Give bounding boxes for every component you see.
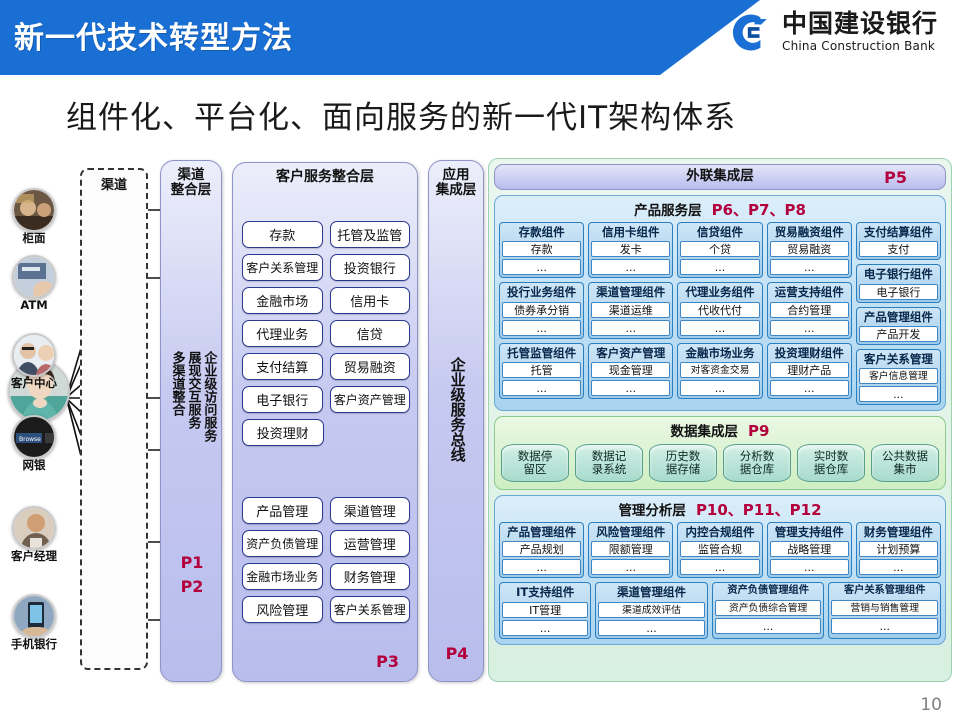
data-store-cylinder[interactable]: 公共数据集市	[871, 444, 939, 482]
ccb-logo-cn: 中国建设银行	[782, 11, 938, 37]
product-service-layer: 产品服务层P6、P7、P8 存款组件存款...投行业务组件债券承分销...托管监…	[494, 195, 946, 411]
ccb-logo-text: 中国建设银行 China Construction Bank	[782, 11, 938, 53]
online-bank-photo-icon: Browse	[12, 415, 56, 459]
component-card[interactable]: 托管监管组件托管...	[499, 343, 584, 399]
component-item[interactable]: 产品开发	[859, 326, 938, 342]
component-card[interactable]: 资产负债管理组件资产负债综合管理...	[712, 582, 825, 638]
service-pill-row: 代理业务信贷	[242, 320, 410, 347]
channel-item-atm[interactable]: ATM	[8, 255, 60, 312]
service-pill-row: 支付结算贸易融资	[242, 353, 410, 380]
service-pill-row: 资产负债管理运营管理	[242, 530, 410, 557]
component-item[interactable]: ...	[770, 559, 849, 575]
component-item[interactable]: 渠道成效评估	[598, 602, 705, 618]
component-title: 内控合规组件	[680, 525, 759, 539]
management-analysis-layer: 管理分析层P10、P11、P12 产品管理组件产品规划...风险管理组件限额管理…	[494, 495, 946, 645]
channel-layer-tag-p2: P2	[161, 577, 223, 596]
component-card[interactable]: 产品管理组件产品开发	[856, 307, 941, 345]
component-card[interactable]: 投资理财组件理财产品...	[767, 343, 852, 399]
component-card[interactable]: 运营支持组件合约管理...	[767, 282, 852, 338]
service-pill[interactable]: 产品管理	[242, 497, 323, 524]
service-layer-title: 客户服务整合层	[233, 163, 417, 186]
service-pill[interactable]: 投资理财	[242, 419, 324, 446]
component-title: 客户资产管理	[591, 346, 670, 360]
product-component-grid: 存款组件存款...投行业务组件债券承分销...托管监管组件托管...信用卡组件发…	[499, 222, 941, 406]
component-item[interactable]: ...	[859, 386, 938, 402]
service-pill[interactable]: 投资银行	[330, 254, 411, 281]
channel-vtext-1: 企业级访问服务	[200, 351, 215, 442]
product-column: 信贷组件个贷...代理业务组件代收代付...金融市场业务对客资金交易...	[677, 222, 762, 406]
component-item[interactable]: ...	[859, 559, 938, 575]
app-layer-title: 应用集成层	[429, 161, 483, 198]
component-item[interactable]: ...	[502, 320, 581, 336]
service-pill-row: 金融市场业务财务管理	[242, 563, 410, 590]
product-layer-tag: P6、P7、P8	[712, 201, 806, 219]
channel-item-account-manager[interactable]: 客户经理	[8, 506, 60, 563]
data-store-cylinder[interactable]: 分析数据仓库	[723, 444, 791, 482]
data-store-cylinder[interactable]: 数据记录系统	[575, 444, 643, 482]
channel-item-counter[interactable]: 柜面	[8, 188, 60, 245]
component-card[interactable]: 代理业务组件代收代付...	[677, 282, 762, 338]
service-pill-empty	[331, 419, 411, 446]
svg-text:Browse: Browse	[19, 436, 41, 443]
component-item[interactable]: 代收代付	[680, 302, 759, 318]
service-pill[interactable]: 信用卡	[330, 287, 411, 314]
component-item[interactable]: ...	[831, 618, 938, 634]
channel-item-mobile-bank[interactable]: 手机银行	[8, 594, 60, 651]
component-title: 运营支持组件	[770, 285, 849, 299]
service-pill-row: 电子银行客户资产管理	[242, 386, 410, 413]
external-layer-tag: P5	[884, 168, 907, 187]
component-title: 客户关系管理组件	[831, 585, 938, 598]
component-title: 代理业务组件	[680, 285, 759, 299]
service-pill[interactable]: 信贷	[330, 320, 411, 347]
component-title: 产品管理组件	[859, 310, 938, 324]
component-item[interactable]: 存款	[502, 241, 581, 257]
component-item[interactable]: 托管	[502, 362, 581, 378]
mgmt-row-1: 产品管理组件产品规划...风险管理组件限额管理...内控合规组件监管合规...管…	[499, 522, 941, 578]
service-pill[interactable]: 金融市场业务	[242, 563, 323, 590]
channel-layer-tag-p1: P1	[161, 553, 223, 572]
service-pill[interactable]: 风险管理	[242, 596, 323, 623]
component-title: 金融市场业务	[680, 346, 759, 360]
component-item[interactable]: 监管合规	[680, 541, 759, 557]
service-pill[interactable]: 贸易融资	[330, 353, 411, 380]
mobile-bank-photo-icon	[12, 594, 56, 638]
component-item[interactable]: ...	[680, 259, 759, 275]
data-layer-title: 数据集成层P9	[501, 419, 939, 440]
product-column: 支付结算组件支付电子银行组件电子银行产品管理组件产品开发客户关系管理客户信息管理…	[856, 222, 941, 406]
component-card[interactable]: 财务管理组件计划预算...	[856, 522, 941, 578]
page-title: 组件化、平台化、面向服务的新一代IT架构体系	[66, 92, 736, 137]
component-item[interactable]: IT管理	[502, 602, 588, 618]
channel-item-call-center[interactable]: 客户中心	[8, 333, 60, 390]
customer-service-integration-layer: 客户服务整合层 存款托管及监管客户关系管理投资银行金融市场信用卡代理业务信贷支付…	[232, 162, 418, 682]
product-column: 信用卡组件发卡...渠道管理组件渠道运维...客户资产管理现金管理...	[588, 222, 673, 406]
component-item[interactable]: 电子银行	[859, 284, 938, 300]
component-card[interactable]: 客户资产管理现金管理...	[588, 343, 673, 399]
data-store-cylinder[interactable]: 历史数据存储	[649, 444, 717, 482]
component-item[interactable]: ...	[502, 559, 581, 575]
mgmt-layer-title: 管理分析层P10、P11、P12	[499, 498, 941, 519]
application-integration-layer: 应用集成层 企业级服务总线 P4	[428, 160, 484, 682]
component-item[interactable]: ...	[591, 259, 670, 275]
component-title: 支付结算组件	[859, 225, 938, 239]
service-pill-row: 存款托管及监管	[242, 221, 410, 248]
component-card[interactable]: 渠道管理组件渠道成效评估...	[595, 582, 708, 638]
account-manager-photo-icon	[12, 506, 56, 550]
ccb-logo-mark	[728, 10, 773, 55]
component-title: 管理支持组件	[770, 525, 849, 539]
component-item[interactable]: ...	[770, 320, 849, 336]
service-pill-row: 产品管理渠道管理	[242, 497, 410, 524]
product-column: 存款组件存款...投行业务组件债券承分销...托管监管组件托管...	[499, 222, 584, 406]
atm-photo-icon	[12, 255, 56, 299]
service-pill[interactable]: 客户关系管理	[330, 596, 411, 623]
component-item[interactable]: ...	[502, 259, 581, 275]
service-pill[interactable]: 客户关系管理	[242, 254, 323, 281]
component-item[interactable]: 现金管理	[591, 362, 670, 378]
service-pill-row: 金融市场信用卡	[242, 287, 410, 314]
component-card[interactable]: 贸易融资组件贸易融资...	[767, 222, 852, 278]
mgmt-row-2: IT支持组件IT管理...渠道管理组件渠道成效评估...资产负债管理组件资产负债…	[499, 582, 941, 638]
channel-integration-title: 渠道整合层	[161, 161, 221, 198]
component-item[interactable]: ...	[770, 259, 849, 275]
component-item[interactable]: ...	[715, 618, 822, 634]
component-title: 产品管理组件	[502, 525, 581, 539]
service-group-2: 产品管理渠道管理资产负债管理运营管理金融市场业务财务管理风险管理客户关系管理	[242, 497, 410, 629]
component-item[interactable]: 个贷	[680, 241, 759, 257]
channel-label: 网银	[8, 460, 60, 472]
component-item[interactable]: 限额管理	[591, 541, 670, 557]
component-title: 渠道管理组件	[598, 585, 705, 599]
component-item[interactable]: ...	[502, 380, 581, 396]
service-pill-row: 投资理财	[242, 419, 410, 446]
data-integration-layer: 数据集成层P9 数据停留区数据记录系统历史数据存储分析数据仓库实时数据仓库公共数…	[494, 416, 946, 490]
channel-label: 柜面	[8, 233, 60, 245]
component-item[interactable]: ...	[598, 620, 705, 636]
component-item[interactable]: ...	[591, 559, 670, 575]
counter-photo-icon	[12, 188, 56, 232]
service-layer-tag: P3	[376, 652, 399, 671]
external-integration-layer: 外联集成层 P5	[494, 164, 946, 190]
product-column: 贸易融资组件贸易融资...运营支持组件合约管理...投资理财组件理财产品...	[767, 222, 852, 406]
channel-item-online-bank[interactable]: Browse 网银	[8, 415, 60, 472]
channels-title: 渠道	[82, 174, 146, 193]
service-pill[interactable]: 运营管理	[330, 530, 411, 557]
channel-label: 手机银行	[8, 639, 60, 651]
component-card[interactable]: 信用卡组件发卡...	[588, 222, 673, 278]
component-card[interactable]: 产品管理组件产品规划...	[499, 522, 584, 578]
component-item[interactable]: 理财产品	[770, 362, 849, 378]
service-pill[interactable]: 财务管理	[330, 563, 411, 590]
service-group-1: 存款托管及监管客户关系管理投资银行金融市场信用卡代理业务信贷支付结算贸易融资电子…	[242, 221, 410, 452]
component-card[interactable]: 客户关系管理客户信息管理...	[856, 349, 941, 405]
component-title: IT支持组件	[502, 585, 588, 599]
component-item[interactable]: ...	[591, 380, 670, 396]
component-title: 信贷组件	[680, 225, 759, 239]
component-item[interactable]: 贸易融资	[770, 241, 849, 257]
component-item[interactable]: 产品规划	[502, 541, 581, 557]
right-layers-stack: 外联集成层 P5 产品服务层P6、P7、P8 存款组件存款...投行业务组件债券…	[488, 158, 952, 682]
call-center-photo-icon	[12, 333, 56, 377]
component-card[interactable]: 渠道管理组件渠道运维...	[588, 282, 673, 338]
component-card[interactable]: 信贷组件个贷...	[677, 222, 762, 278]
service-pill[interactable]: 存款	[242, 221, 323, 248]
component-item[interactable]: ...	[502, 620, 588, 636]
component-title: 渠道管理组件	[591, 285, 670, 299]
component-item[interactable]: ...	[680, 320, 759, 336]
component-card[interactable]: 金融市场业务对客资金交易...	[677, 343, 762, 399]
app-layer-vtext: 企业级服务总线	[448, 357, 465, 462]
component-item[interactable]: 债券承分销	[502, 302, 581, 318]
channels-group: 渠道	[80, 168, 148, 670]
component-item[interactable]: ...	[680, 380, 759, 396]
data-store-row: 数据停留区数据记录系统历史数据存储分析数据仓库实时数据仓库公共数据集市	[501, 444, 939, 482]
service-pill[interactable]: 电子银行	[242, 386, 323, 413]
component-item[interactable]: 客户信息管理	[859, 368, 938, 384]
component-item[interactable]: 发卡	[591, 241, 670, 257]
product-layer-title: 产品服务层P6、P7、P8	[499, 198, 941, 219]
component-card[interactable]: 电子银行组件电子银行	[856, 264, 941, 302]
channel-integration-layer: 渠道整合层 多渠道整合 展现交互服务 企业级访问服务 P1 P2	[160, 160, 222, 682]
component-title: 信用卡组件	[591, 225, 670, 239]
channel-label: 客户中心	[8, 378, 60, 390]
component-item[interactable]: 营销与销售管理	[831, 600, 938, 616]
component-item[interactable]: 资产负债综合管理	[715, 600, 822, 616]
mgmt-layer-tag: P10、P11、P12	[696, 501, 822, 519]
component-item[interactable]: 渠道运维	[591, 302, 670, 318]
component-title: 投资理财组件	[770, 346, 849, 360]
component-title: 客户关系管理	[859, 352, 938, 366]
service-pill[interactable]: 资产负债管理	[242, 530, 323, 557]
app-layer-tag: P4	[429, 644, 485, 663]
component-item[interactable]: 对客资金交易	[680, 362, 759, 378]
component-item[interactable]: ...	[770, 380, 849, 396]
data-store-cylinder[interactable]: 实时数据仓库	[797, 444, 865, 482]
service-pill[interactable]: 托管及监管	[330, 221, 411, 248]
service-pill[interactable]: 客户资产管理	[330, 386, 411, 413]
component-card[interactable]: 支付结算组件支付	[856, 222, 941, 260]
service-pill[interactable]: 金融市场	[242, 287, 323, 314]
component-title: 财务管理组件	[859, 525, 938, 539]
component-title: 资产负债管理组件	[715, 585, 822, 598]
component-item[interactable]: 合约管理	[770, 302, 849, 318]
component-card[interactable]: 客户关系管理组件营销与销售管理...	[828, 582, 941, 638]
channel-label: 客户经理	[8, 551, 60, 563]
ccb-logo-en: China Construction Bank	[782, 39, 938, 54]
component-card[interactable]: 内控合规组件监管合规...	[677, 522, 762, 578]
component-title: 存款组件	[502, 225, 581, 239]
component-title: 贸易融资组件	[770, 225, 849, 239]
service-pill[interactable]: 渠道管理	[330, 497, 411, 524]
data-store-cylinder[interactable]: 数据停留区	[501, 444, 569, 482]
component-item[interactable]: 支付	[859, 241, 938, 257]
component-title: 托管监管组件	[502, 346, 581, 360]
service-pill-row: 客户关系管理投资银行	[242, 254, 410, 281]
component-card[interactable]: 投行业务组件债券承分销...	[499, 282, 584, 338]
component-item[interactable]: 战略管理	[770, 541, 849, 557]
page-number: 10	[920, 695, 942, 715]
external-layer-title: 外联集成层	[495, 165, 945, 184]
component-title: 风险管理组件	[591, 525, 670, 539]
component-title: 投行业务组件	[502, 285, 581, 299]
page-header: 新一代技术转型方法 中国建设银行 China Construction Bank	[0, 0, 960, 75]
channel-vtext-3: 多渠道整合	[169, 351, 184, 442]
component-card[interactable]: 管理支持组件战略管理...	[767, 522, 852, 578]
component-card[interactable]: 风险管理组件限额管理...	[588, 522, 673, 578]
component-item[interactable]: ...	[591, 320, 670, 336]
header-title: 新一代技术转型方法	[14, 13, 293, 57]
component-item[interactable]: ...	[680, 559, 759, 575]
component-card[interactable]: IT支持组件IT管理...	[499, 582, 591, 638]
ccb-logo: 中国建设银行 China Construction Bank	[728, 10, 938, 55]
service-pill[interactable]: 代理业务	[242, 320, 323, 347]
channel-vtext-2: 展现交互服务	[185, 351, 200, 442]
channel-label: ATM	[8, 300, 60, 312]
data-layer-tag: P9	[748, 422, 769, 440]
component-title: 电子银行组件	[859, 267, 938, 281]
service-pill[interactable]: 支付结算	[242, 353, 323, 380]
component-card[interactable]: 存款组件存款...	[499, 222, 584, 278]
component-item[interactable]: 计划预算	[859, 541, 938, 557]
service-pill-row: 风险管理客户关系管理	[242, 596, 410, 623]
